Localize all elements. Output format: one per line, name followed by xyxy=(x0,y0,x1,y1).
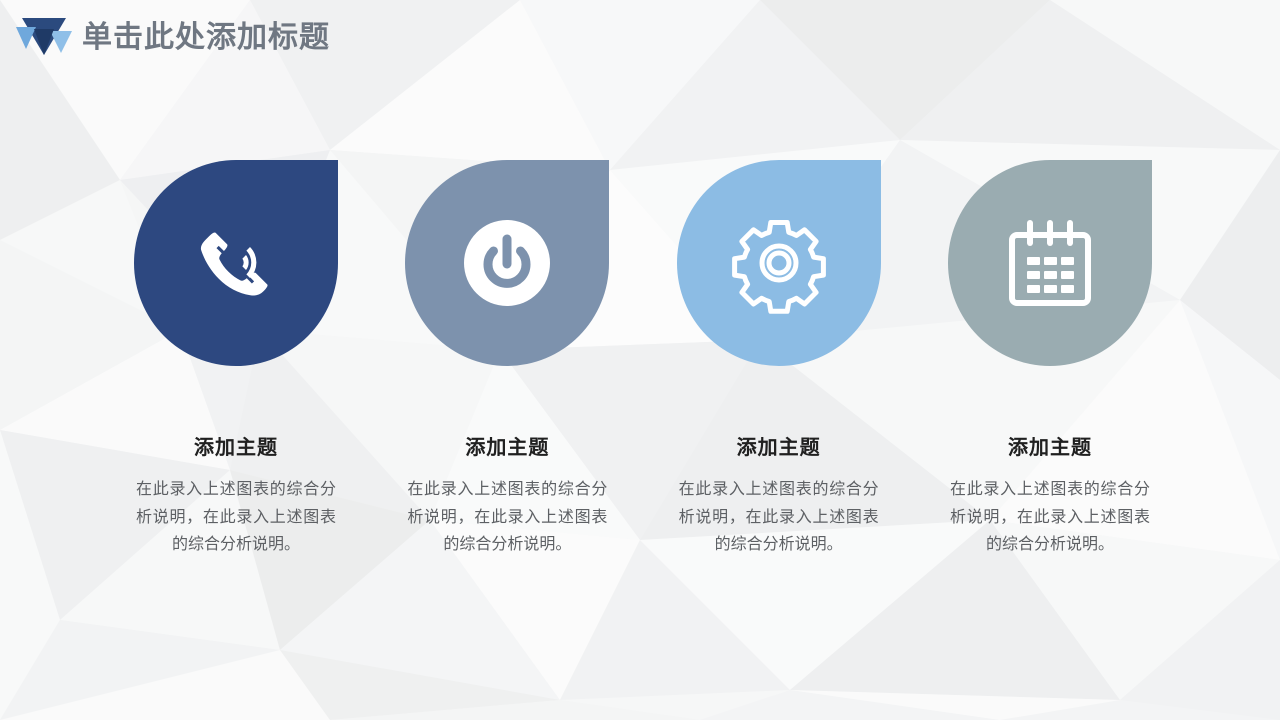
badge-shape-2[interactable] xyxy=(405,160,609,366)
feature-card-3[interactable]: 添加主题 在此录入上述图表的综合分析说明，在此录入上述图表的综合分析说明。 xyxy=(663,160,895,559)
card-description-1: 在此录入上述图表的综合分析说明，在此录入上述图表的综合分析说明。 xyxy=(136,476,336,559)
gear-icon xyxy=(723,207,835,319)
card-title-1: 添加主题 xyxy=(194,438,278,458)
feature-card-1[interactable]: 添加主题 在此录入上述图表的综合分析说明，在此录入上述图表的综合分析说明。 xyxy=(120,160,352,559)
power-button-icon xyxy=(451,207,563,319)
badge-shape-1[interactable] xyxy=(134,160,338,366)
card-title-4: 添加主题 xyxy=(1008,438,1092,458)
card-description-2: 在此录入上述图表的综合分析说明，在此录入上述图表的综合分析说明。 xyxy=(407,476,607,559)
feature-card-4[interactable]: 添加主题 在此录入上述图表的综合分析说明，在此录入上述图表的综合分析说明。 xyxy=(934,160,1166,559)
badge-shape-3[interactable] xyxy=(677,160,881,366)
card-title-3: 添加主题 xyxy=(737,438,821,458)
feature-card-2[interactable]: 添加主题 在此录入上述图表的综合分析说明，在此录入上述图表的综合分析说明。 xyxy=(391,160,623,559)
phone-call-icon xyxy=(180,207,292,319)
page-title: 单击此处添加标题 xyxy=(82,23,330,53)
calendar-icon xyxy=(998,211,1102,315)
slide-header: 单击此处添加标题 xyxy=(0,0,1280,76)
card-description-3: 在此录入上述图表的综合分析说明，在此录入上述图表的综合分析说明。 xyxy=(679,476,879,559)
triangles-logo-icon xyxy=(14,15,74,61)
feature-card-row: 添加主题 在此录入上述图表的综合分析说明，在此录入上述图表的综合分析说明。 xyxy=(120,160,1166,559)
slide-canvas: 单击此处添加标题 添加主题 在此录入上述图表的综合分析说明，在此录入上述图表的综… xyxy=(0,0,1280,720)
card-title-2: 添加主题 xyxy=(465,438,549,458)
card-description-4: 在此录入上述图表的综合分析说明，在此录入上述图表的综合分析说明。 xyxy=(950,476,1150,559)
badge-shape-4[interactable] xyxy=(948,160,1152,366)
